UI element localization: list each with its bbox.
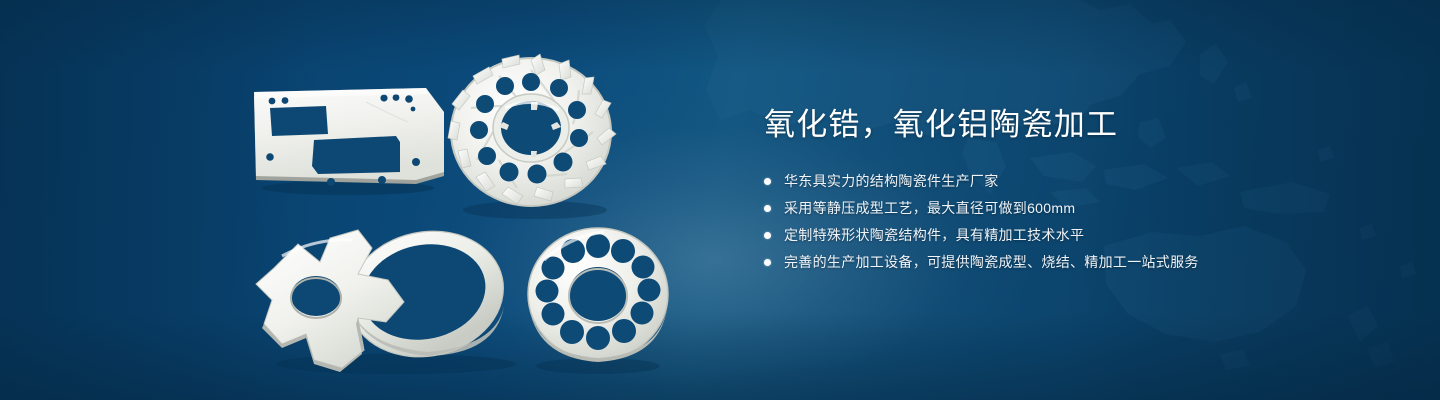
feature-label: 完善的生产加工设备，可提供陶瓷成型、烧结、精加工一站式服务	[784, 252, 1199, 273]
ceramic-cross-plate-image	[246, 222, 526, 377]
ceramic-perforated-ring-image	[518, 224, 683, 379]
list-item: 定制特殊形状陶瓷结构件，具有精加工技术水平	[764, 225, 1404, 246]
list-item: 采用等静压成型工艺，最大直径可做到600mm	[764, 198, 1404, 219]
feature-label: 华东具实力的结构陶瓷件生产厂家	[784, 171, 999, 192]
ceramic-vane-impeller-image	[443, 46, 623, 226]
bullet-icon	[764, 178, 771, 185]
feature-label: 采用等静压成型工艺，最大直径可做到600mm	[784, 198, 1075, 219]
bullet-icon	[764, 232, 771, 239]
feature-list: 华东具实力的结构陶瓷件生产厂家 采用等静压成型工艺，最大直径可做到600mm 定…	[764, 171, 1404, 273]
banner-content: 氧化锆，氧化铝陶瓷加工 华东具实力的结构陶瓷件生产厂家 采用等静压成型工艺，最大…	[764, 108, 1404, 279]
ceramic-processing-banner: 氧化锆，氧化铝陶瓷加工 华东具实力的结构陶瓷件生产厂家 采用等静压成型工艺，最大…	[0, 0, 1440, 400]
ceramic-machined-plate-image	[248, 72, 448, 202]
bullet-icon	[764, 259, 771, 266]
product-photo-group	[0, 0, 720, 400]
page-title: 氧化锆，氧化铝陶瓷加工	[764, 108, 1404, 143]
feature-label: 定制特殊形状陶瓷结构件，具有精加工技术水平	[784, 225, 1084, 246]
list-item: 完善的生产加工设备，可提供陶瓷成型、烧结、精加工一站式服务	[764, 252, 1404, 273]
list-item: 华东具实力的结构陶瓷件生产厂家	[764, 171, 1404, 192]
bullet-icon	[764, 205, 771, 212]
